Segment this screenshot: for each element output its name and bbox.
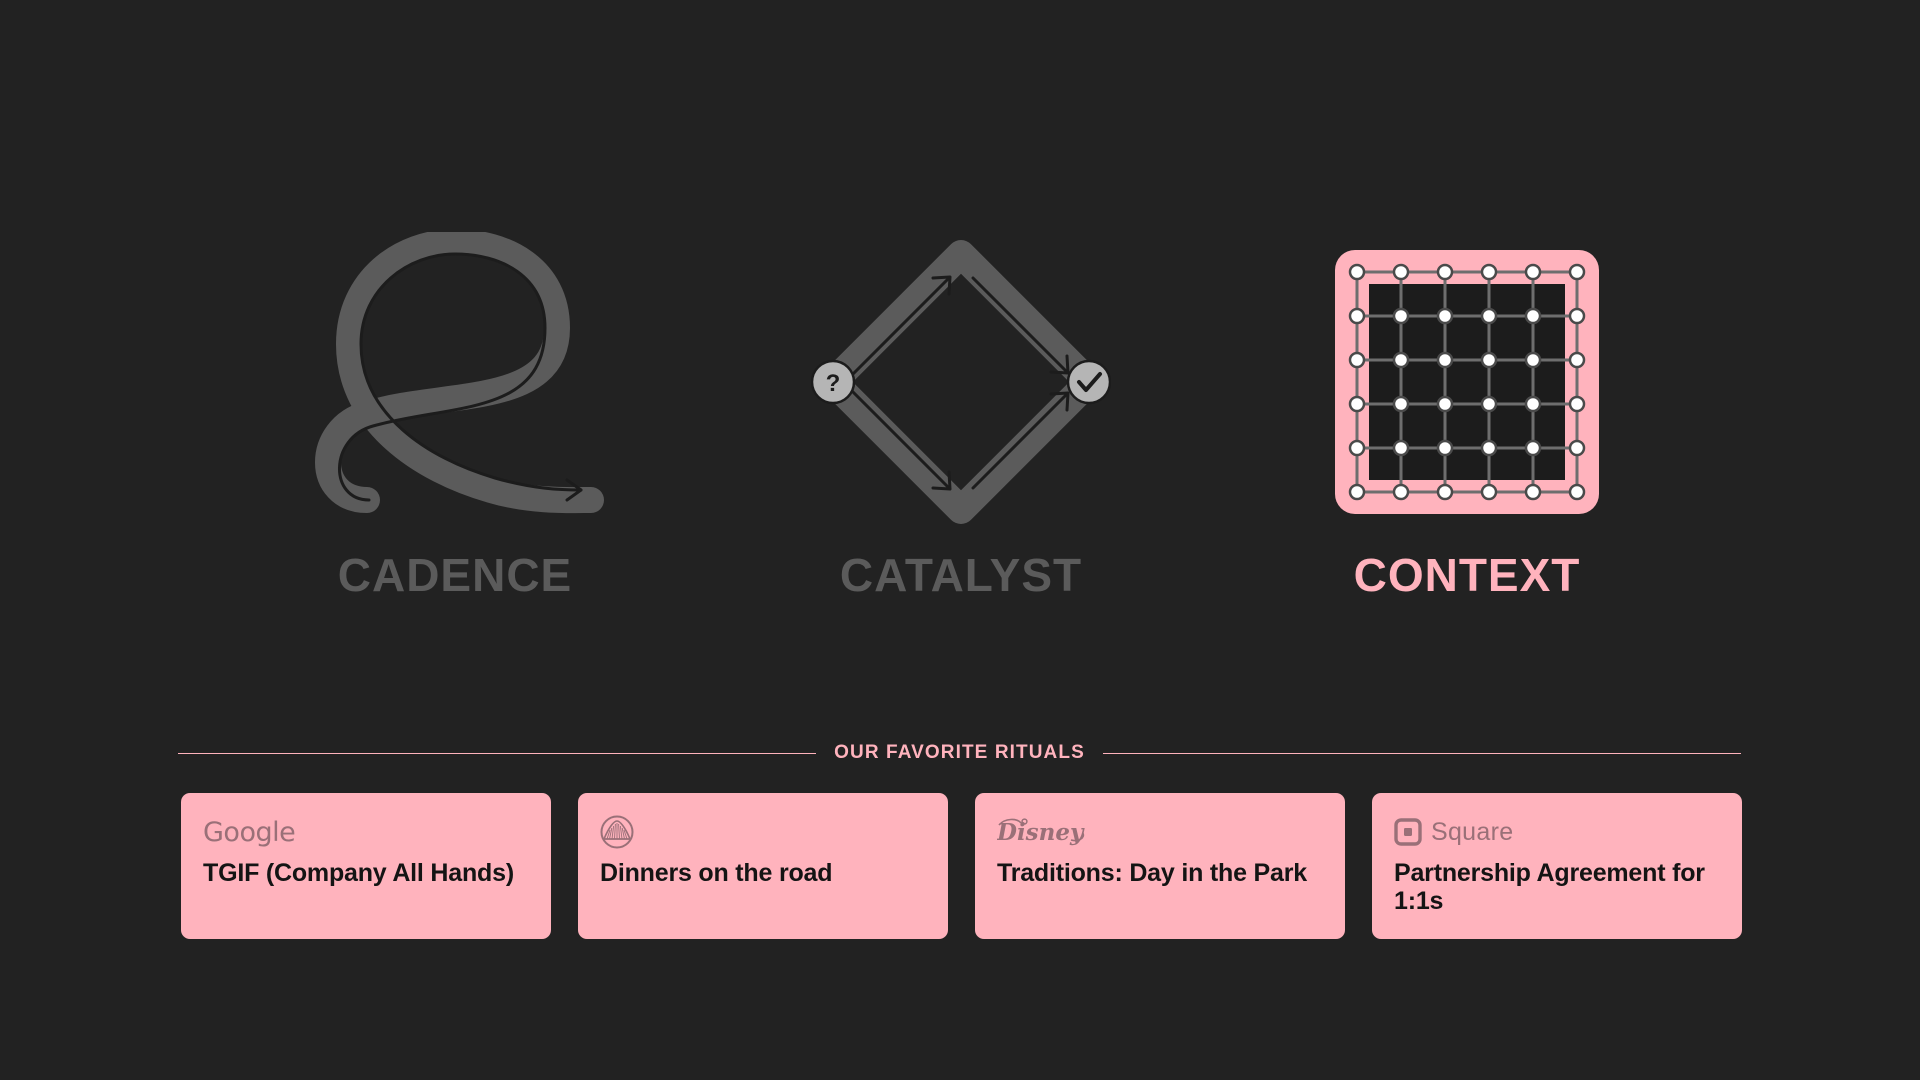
ritual-card-title: TGIF (Company All Hands) [203, 859, 529, 887]
section-title: OUR FAVORITE RITUALS [834, 742, 1085, 764]
pillar-label-catalyst: CATALYST [840, 552, 1082, 598]
divider-line-right [1103, 753, 1741, 754]
disney-logo: Disney [997, 815, 1323, 849]
golden-state-warriors-logo [600, 815, 926, 849]
section-divider: OUR FAVORITE RITUALS [178, 738, 1741, 768]
pillar-catalyst[interactable]: ? CATALYST [776, 232, 1146, 598]
ritual-card[interactable]: Dinners on the road [578, 793, 948, 939]
diamond-cycle-icon: ? [811, 232, 1111, 532]
ritual-card-title: Dinners on the road [600, 859, 926, 887]
disney-logo-text: Disney [997, 819, 1085, 846]
slide-canvas: CADENCE [0, 0, 1920, 1080]
check-node [1068, 361, 1110, 403]
ritual-card[interactable]: Disney Traditions: Day in the Park [975, 793, 1345, 939]
ritual-cards-row: Google TGIF (Company All Hands) [181, 793, 1741, 939]
pillars-row: CADENCE [180, 232, 1740, 652]
loop-arrow-icon [305, 232, 605, 532]
pillar-cadence[interactable]: CADENCE [270, 232, 640, 598]
dot-grid-frame-icon [1317, 232, 1617, 532]
google-logo: Google [203, 815, 529, 849]
ritual-card-title: Traditions: Day in the Park [997, 859, 1323, 887]
ritual-card[interactable]: Google TGIF (Company All Hands) [181, 793, 551, 939]
pillar-label-context: CONTEXT [1354, 552, 1581, 598]
question-node: ? [812, 361, 854, 403]
ritual-card[interactable]: Square Partnership Agreement for 1:1s [1372, 793, 1742, 939]
ritual-card-title: Partnership Agreement for 1:1s [1394, 859, 1720, 915]
divider-line-left [178, 753, 816, 754]
square-logo: Square [1394, 815, 1720, 849]
pillar-context[interactable]: CONTEXT [1282, 232, 1652, 598]
pillar-label-cadence: CADENCE [338, 552, 572, 598]
svg-text:?: ? [826, 370, 841, 397]
google-logo-text: Google [203, 819, 295, 846]
square-logo-text: Square [1431, 820, 1513, 845]
